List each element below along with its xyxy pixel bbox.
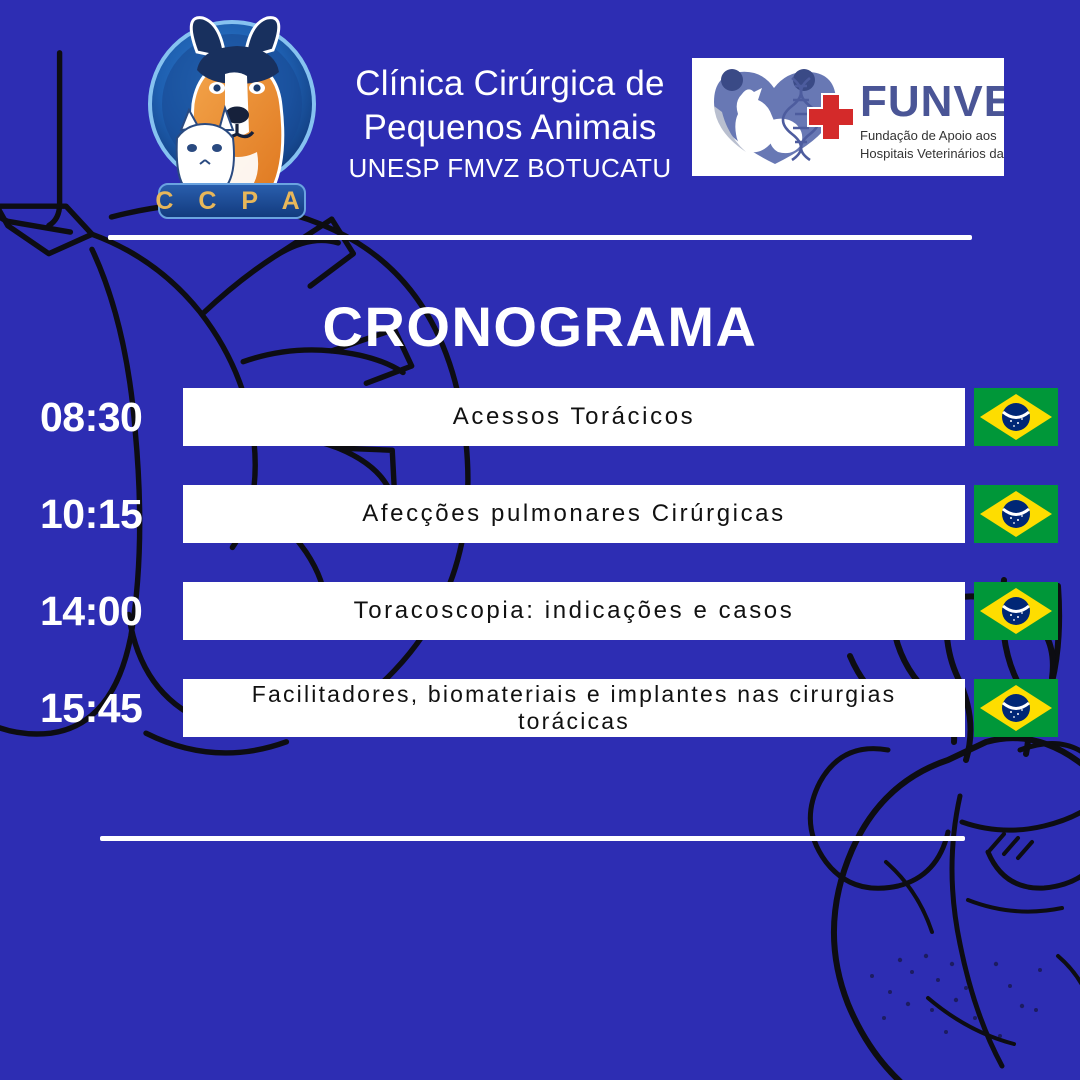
- schedule-row: 15:45 Facilitadores, biomateriais e impl…: [0, 679, 1080, 737]
- funvet-tagline-2: Hospitais Veterinários da UNESP: [860, 146, 1004, 161]
- brazil-flag-icon: [974, 679, 1058, 737]
- schedule-title-bar: Acessos Torácicos: [183, 388, 965, 446]
- schedule-title: Acessos Torácicos: [439, 403, 710, 431]
- brazil-flag-icon: [974, 485, 1058, 543]
- schedule-time: 08:30: [40, 388, 175, 446]
- funvet-brand: FUNVET: [860, 77, 1004, 126]
- funvet-tagline-1: Fundação de Apoio aos: [860, 128, 997, 143]
- schedule-row: 08:30 Acessos Torácicos: [0, 388, 1080, 446]
- schedule-row: 10:15 Afecções pulmonares Cirúrgicas: [0, 485, 1080, 543]
- schedule-list: 08:30 Acessos Torácicos 10:15 Afecções p…: [0, 388, 1080, 776]
- title-line-2: Pequenos Animais: [330, 106, 690, 150]
- brazil-flag-icon: [974, 582, 1058, 640]
- schedule-title-bar: Afecções pulmonares Cirúrgicas: [183, 485, 965, 543]
- schedule-title: Toracoscopia: indicações e casos: [340, 597, 809, 625]
- schedule-title: Afecções pulmonares Cirúrgicas: [348, 500, 799, 528]
- section-title-cronograma: CRONOGRAMA: [0, 294, 1080, 359]
- schedule-time: 15:45: [40, 679, 175, 737]
- schedule-title-bar: Toracoscopia: indicações e casos: [183, 582, 965, 640]
- ccpa-logo: C C P A: [145, 12, 320, 222]
- event-poster: C C P A Clínica Cirúrgica de Pequenos An…: [0, 0, 1080, 1080]
- schedule-title: Facilitadores, biomateriais e implantes …: [183, 681, 965, 735]
- schedule-row: 14:00 Toracoscopia: indicações e casos: [0, 582, 1080, 640]
- funvet-logo: FUNVET Fundação de Apoio aos Hospitais V…: [692, 58, 1004, 176]
- poster-footer: Transmissão via Youtube Contato da organ…: [0, 850, 1080, 1080]
- poster-title-block: Clínica Cirúrgica de Pequenos Animais UN…: [330, 62, 690, 185]
- brazil-flag-icon: [974, 388, 1058, 446]
- title-line-1: Clínica Cirúrgica de: [330, 62, 690, 106]
- schedule-title-bar: Facilitadores, biomateriais e implantes …: [183, 679, 965, 737]
- schedule-time: 14:00: [40, 582, 175, 640]
- title-subtitle: UNESP FMVZ BOTUCATU: [330, 151, 690, 185]
- poster-header: C C P A Clínica Cirúrgica de Pequenos An…: [0, 0, 1080, 225]
- ccpa-acronym: C C P A: [155, 187, 308, 215]
- schedule-time: 10:15: [40, 485, 175, 543]
- divider-bottom: [100, 836, 965, 841]
- divider-top: [108, 235, 972, 240]
